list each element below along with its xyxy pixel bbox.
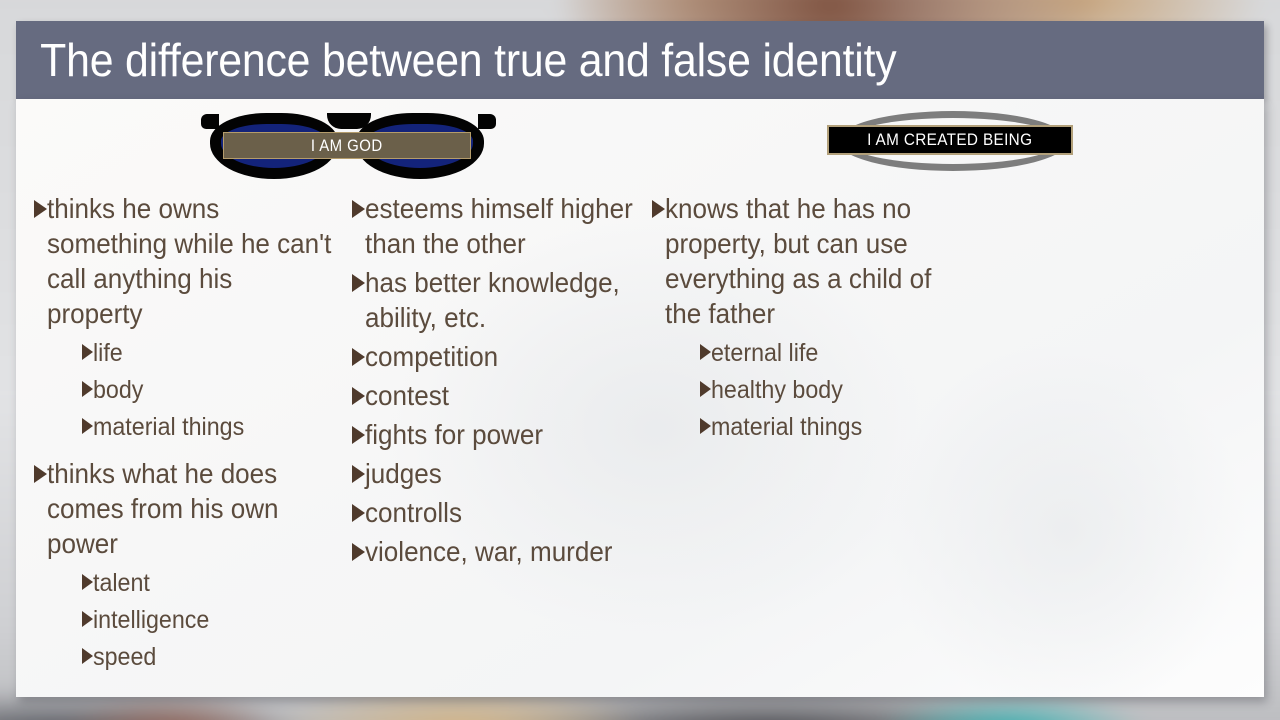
triangle-bullet-icon [352, 274, 365, 292]
triangle-bullet-icon [34, 465, 47, 483]
list-item: thinks he owns something while he can't … [34, 191, 354, 331]
triangle-bullet-icon [82, 381, 93, 397]
list-item-label: knows that he has no property, but can u… [665, 191, 960, 331]
bullet-column-left: thinks he owns something while he can't … [34, 191, 354, 676]
list-item: violence, war, murder [352, 534, 662, 569]
list-item-sub: healthy body [700, 372, 982, 409]
triangle-bullet-icon [82, 418, 93, 434]
eye-ring-icon: I AM CREATED BEING [821, 107, 1091, 177]
list-item-sub: material things [82, 409, 354, 446]
triangle-bullet-icon [352, 426, 365, 444]
i-am-god-banner: I AM GOD [223, 132, 471, 159]
list-item: judges [352, 456, 662, 491]
i-am-god-label: I AM GOD [311, 136, 383, 156]
list-item-label: judges [365, 456, 641, 491]
triangle-bullet-icon [652, 200, 665, 218]
bullet-column-right: knows that he has no property, but can u… [652, 191, 982, 446]
list-item-label: material things [93, 409, 336, 446]
list-item-label: talent [93, 565, 336, 602]
list-item-sub: eternal life [700, 335, 982, 372]
bullet-list-right: knows that he has no property, but can u… [652, 191, 982, 446]
list-item-label: life [93, 335, 336, 372]
list-item-label: thinks what he does comes from his own p… [47, 456, 333, 561]
list-item-label: healthy body [711, 372, 963, 409]
list-item-sub: intelligence [82, 602, 354, 639]
slide-root: The difference between true and false id… [0, 0, 1280, 720]
list-item-sub: talent [82, 565, 354, 602]
list-item-sub: material things [700, 409, 982, 446]
list-item-sub: body [82, 372, 354, 409]
page-title: The difference between true and false id… [16, 37, 897, 83]
triangle-bullet-icon [700, 381, 711, 397]
triangle-bullet-icon [82, 611, 93, 627]
triangle-bullet-icon [352, 387, 365, 405]
triangle-bullet-icon [352, 200, 365, 218]
list-item: esteems himself higher than the other [352, 191, 662, 261]
list-item-label: has better knowledge, ability, etc. [365, 265, 641, 335]
list-item-label: material things [711, 409, 963, 446]
bullet-list-middle: esteems himself higher than the otherhas… [352, 191, 662, 569]
triangle-bullet-icon [34, 200, 47, 218]
list-item: contest [352, 378, 662, 413]
list-item: knows that he has no property, but can u… [652, 191, 982, 331]
list-item-label: contest [365, 378, 641, 413]
list-item-sub: speed [82, 639, 354, 676]
list-item-label: controlls [365, 495, 641, 530]
list-item: has better knowledge, ability, etc. [352, 265, 662, 335]
i-am-created-being-label: I AM CREATED BEING [867, 130, 1032, 150]
list-item: competition [352, 339, 662, 374]
slide-title-bar: The difference between true and false id… [16, 21, 1264, 99]
list-item-label: violence, war, murder [365, 534, 641, 569]
triangle-bullet-icon [352, 465, 365, 483]
triangle-bullet-icon [82, 344, 93, 360]
list-item-label: fights for power [365, 417, 641, 452]
triangle-bullet-icon [700, 418, 711, 434]
list-item-label: intelligence [93, 602, 336, 639]
slide-content-card: I AM GOD I AM CREATED BEING thinks he ow… [16, 99, 1264, 697]
list-item-label: speed [93, 639, 336, 676]
triangle-bullet-icon [82, 648, 93, 664]
triangle-bullet-icon [700, 344, 711, 360]
bullet-column-middle: esteems himself higher than the otherhas… [352, 191, 662, 573]
sunglasses-icon: I AM GOD [201, 105, 496, 187]
i-am-created-being-banner: I AM CREATED BEING [827, 125, 1073, 155]
list-item-label: eternal life [711, 335, 963, 372]
triangle-bullet-icon [352, 348, 365, 366]
list-item-sub: life [82, 335, 354, 372]
list-item-label: competition [365, 339, 641, 374]
list-item: fights for power [352, 417, 662, 452]
list-item-label: thinks he owns something while he can't … [47, 191, 333, 331]
triangle-bullet-icon [352, 543, 365, 561]
bullet-list-left: thinks he owns something while he can't … [34, 191, 354, 676]
triangle-bullet-icon [82, 574, 93, 590]
list-item: controlls [352, 495, 662, 530]
sunglasses-bridge [327, 113, 371, 129]
sunglasses-right-temple [478, 114, 496, 129]
triangle-bullet-icon [352, 504, 365, 522]
list-item-label: body [93, 372, 336, 409]
list-item-label: esteems himself higher than the other [365, 191, 641, 261]
list-item: thinks what he does comes from his own p… [34, 456, 354, 561]
